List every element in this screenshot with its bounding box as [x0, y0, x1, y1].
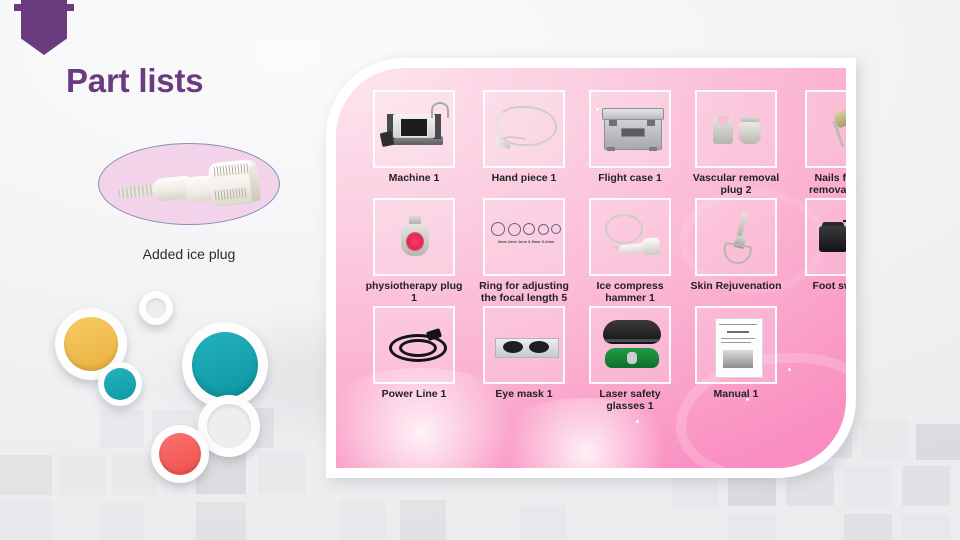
power-line-photo [373, 306, 455, 384]
manual-photo [695, 306, 777, 384]
small-empty-circle [139, 291, 173, 325]
laser-safety-glasses-photo [589, 306, 671, 384]
nails-fungus-removal-plug-photo [805, 90, 846, 168]
parts-grid: Machine 1 Hand piece 1 Flight case 1 [362, 90, 840, 412]
physiotherapy-plug-photo [373, 198, 455, 276]
part-item-eye-mask[interactable]: Eye mask 1 [472, 306, 576, 412]
part-item-hand-piece[interactable]: Hand piece 1 [472, 90, 576, 196]
part-label: Hand piece 1 [476, 172, 572, 184]
part-label: Flight case 1 [582, 172, 678, 184]
red-circle [151, 425, 209, 483]
rings-size-label: 3mm 2mm 1mm 0.5mm 0.2mm [489, 240, 563, 244]
part-label: Ring for adjusting the focal length 5 [472, 280, 576, 304]
ice-compress-hammer-photo [589, 198, 671, 276]
part-label: Ice compress hammer 1 [582, 280, 678, 304]
added-ice-plug-figure [98, 143, 280, 225]
parts-panel: Machine 1 Hand piece 1 Flight case 1 [326, 58, 856, 478]
foot-switch-photo [805, 198, 846, 276]
part-item-foot-switch[interactable]: Foot switch 1 [794, 198, 846, 304]
part-label: Laser safety glasses 1 [582, 388, 678, 412]
part-label: physiotherapy plug 1 [362, 280, 466, 304]
added-ice-plug-caption: Added ice plug [98, 246, 280, 262]
vascular-removal-plug-photo [695, 90, 777, 168]
part-item-nails-fungus-removal-plug[interactable]: Nails fungus removal plug 1 [794, 90, 846, 196]
part-item-machine[interactable]: Machine 1 [362, 90, 466, 196]
part-item-skin-rejuvenation[interactable]: Skin Rejuvenation [684, 198, 788, 304]
part-item-physiotherapy-plug[interactable]: physiotherapy plug 1 [362, 198, 466, 304]
part-label: Nails fungus removal plug 1 [794, 172, 846, 196]
part-label: Skin Rejuvenation [684, 280, 788, 292]
eye-mask-photo [483, 306, 565, 384]
focal-length-rings-photo: 3mm 2mm 1mm 0.5mm 0.2mm [483, 198, 565, 276]
part-item-vascular-removal-plug[interactable]: Vascular removal plug 2 [684, 90, 788, 196]
part-label: Machine 1 [366, 172, 462, 184]
part-item-flight-case[interactable]: Flight case 1 [582, 90, 678, 196]
hand-piece-photo [483, 90, 565, 168]
panel-sparkle-4 [636, 420, 639, 423]
part-label: Manual 1 [688, 388, 784, 400]
part-label: Vascular removal plug 2 [684, 172, 788, 196]
parts-panel-inner: Machine 1 Hand piece 1 Flight case 1 [336, 68, 846, 468]
part-item-laser-safety-glasses[interactable]: Laser safety glasses 1 [582, 306, 678, 412]
flight-case-photo [589, 90, 671, 168]
purple-ribbon-decoration [14, 0, 74, 62]
teal-small-circle [98, 362, 142, 406]
part-item-manual[interactable]: Manual 1 [684, 306, 788, 412]
skin-rejuvenation-photo [695, 198, 777, 276]
part-item-focal-length-rings[interactable]: 3mm 2mm 1mm 0.5mm 0.2mm Ring for adjusti… [472, 198, 576, 304]
machine-photo [373, 90, 455, 168]
page-title: Part lists [66, 62, 203, 100]
part-item-ice-compress-hammer[interactable]: Ice compress hammer 1 [582, 198, 678, 304]
grid-spacer [794, 306, 846, 412]
part-label: Foot switch 1 [798, 280, 846, 292]
part-item-power-line[interactable]: Power Line 1 [362, 306, 466, 412]
part-label: Eye mask 1 [476, 388, 572, 400]
part-label: Power Line 1 [366, 388, 462, 400]
slide-canvas: Part lists Added ice plug [0, 0, 960, 540]
rings-row [491, 222, 561, 236]
